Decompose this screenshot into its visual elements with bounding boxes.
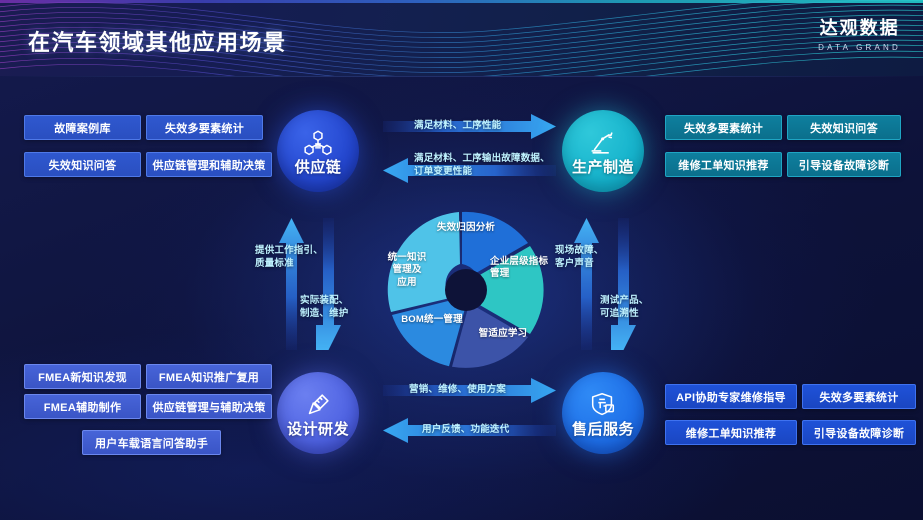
flow-label-top-left: 满足材料、工序输出故障数据、 订单变更性能 [414, 153, 550, 179]
wheel-label-1: 失效归因分析 [421, 222, 511, 234]
tag-design-5[interactable]: 用户车载语言问答助手 [82, 430, 221, 455]
tag-aftersales-4[interactable]: 引导设备故障诊断 [802, 420, 916, 445]
robot-arm-icon [588, 128, 618, 158]
flow-label-right-down: 测试产品、 可追溯性 [600, 295, 649, 321]
wheel-segment-4 [392, 300, 465, 366]
tag-design-4[interactable]: 供应链管理与辅助决策 [146, 394, 272, 419]
arrow-aftersales-to-manufacturing [574, 218, 599, 350]
tag-design-2[interactable]: FMEA知识推广复用 [146, 364, 272, 389]
tag-aftersales-3[interactable]: 维修工单知识推荐 [665, 420, 797, 445]
tag-supply-2[interactable]: 失效多要素统计 [146, 115, 263, 140]
flow-label-left-down: 实际装配、 制造、维护 [300, 295, 349, 321]
tag-aftersales-1[interactable]: API协助专家维修指导 [665, 384, 797, 409]
arrow-design-to-supply [279, 218, 304, 350]
tag-manufacturing-1[interactable]: 失效多要素统计 [665, 115, 782, 140]
wheel-label-2: 企业层级指标 管理 [490, 256, 564, 281]
node-manufacturing[interactable]: 生产制造 [562, 110, 644, 192]
flow-label-bottom-right: 营销、维修、使用方案 [409, 384, 506, 397]
arrow-supply-to-design [316, 218, 341, 350]
tag-manufacturing-2[interactable]: 失效知识问答 [787, 115, 901, 140]
node-label-manufacturing: 生产制造 [572, 160, 634, 175]
flow-label-bottom-left: 用户反馈、功能迭代 [422, 424, 509, 437]
node-supply-chain[interactable]: 供应链 [277, 110, 359, 192]
tag-aftersales-2[interactable]: 失效多要素统计 [802, 384, 916, 409]
tag-design-1[interactable]: FMEA新知识发现 [24, 364, 141, 389]
flow-label-right-up: 现场故障、 客户声音 [555, 245, 604, 271]
tag-supply-4[interactable]: 供应链管理和辅助决策 [146, 152, 272, 177]
tag-manufacturing-3[interactable]: 维修工单知识推荐 [665, 152, 782, 177]
wheel-label-3: 智适应学习 [466, 328, 540, 340]
wheel-label-4: BOM统一管理 [392, 314, 472, 326]
pencil-ruler-icon [303, 390, 333, 420]
arrow-manufacturing-to-aftersales [611, 218, 636, 350]
node-label-after-sales: 售后服务 [572, 422, 634, 437]
node-after-sales[interactable]: 售后服务 [562, 372, 644, 454]
node-design-rd[interactable]: 设计研发 [277, 372, 359, 454]
tag-supply-1[interactable]: 故障案例库 [24, 115, 141, 140]
shield-service-icon [588, 390, 618, 420]
tag-design-3[interactable]: FMEA辅助制作 [24, 394, 141, 419]
flow-label-top-right: 满足材料、工序性能 [414, 120, 501, 133]
flow-label-left-up: 提供工作指引、 质量标准 [255, 245, 323, 271]
network-nodes-icon [303, 128, 333, 158]
wheel-label-5: 统一知识 管理及 应用 [378, 252, 436, 289]
slide-root: 在汽车领域其他应用场景 达观数据 DATA GRAND [0, 0, 923, 520]
wheel-center-hole [445, 269, 487, 311]
node-label-design-rd: 设计研发 [287, 422, 349, 437]
node-label-supply-chain: 供应链 [295, 160, 342, 175]
tag-manufacturing-4[interactable]: 引导设备故障诊断 [787, 152, 901, 177]
tag-supply-3[interactable]: 失效知识问答 [24, 152, 141, 177]
